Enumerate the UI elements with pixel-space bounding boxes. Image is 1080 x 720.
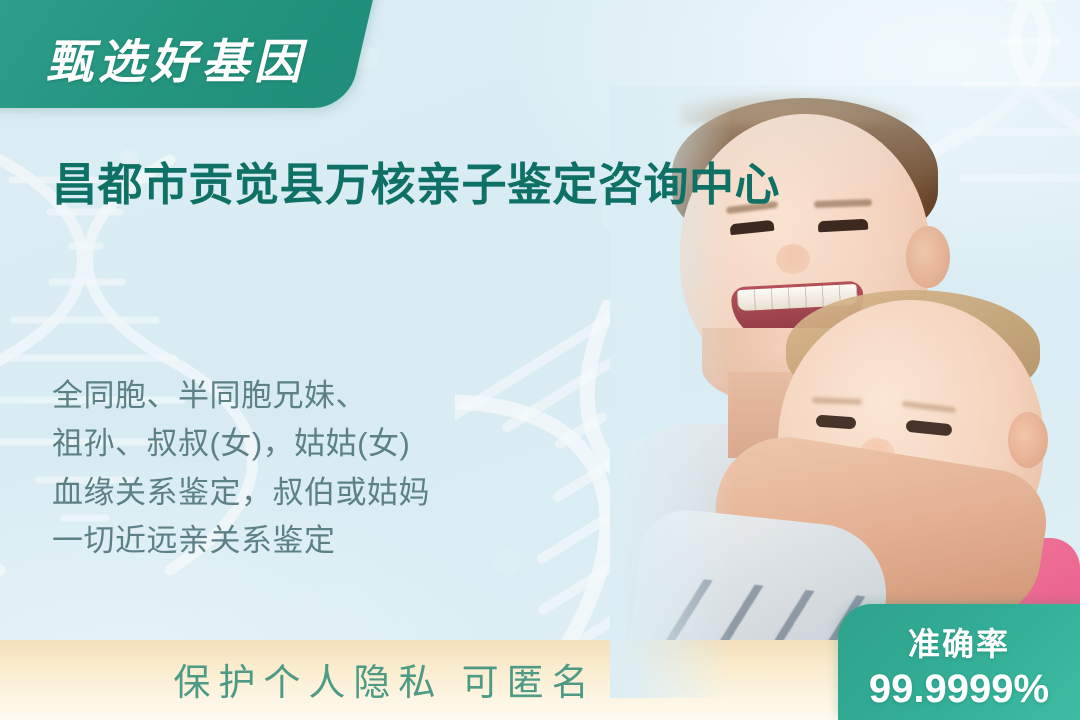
service-line: 祖孙、叔叔(女)，姑姑(女) (52, 420, 430, 468)
service-line: 血缘关系鉴定，叔伯或姑妈 (52, 469, 430, 517)
promo-poster: 甄选好基因 昌都市贡觉县万核亲子鉴定咨询中心 全同胞、半同胞兄妹、 祖孙、叔叔(… (0, 0, 1080, 720)
brand-banner-text: 甄选好基因 (26, 22, 326, 92)
page-title: 昌都市贡觉县万核亲子鉴定咨询中心 (52, 155, 882, 215)
service-line: 一切近远亲关系鉴定 (52, 517, 430, 565)
service-description: 全同胞、半同胞兄妹、 祖孙、叔叔(女)，姑姑(女) 血缘关系鉴定，叔伯或姑妈 一… (52, 372, 430, 565)
service-line: 全同胞、半同胞兄妹、 (52, 372, 430, 420)
